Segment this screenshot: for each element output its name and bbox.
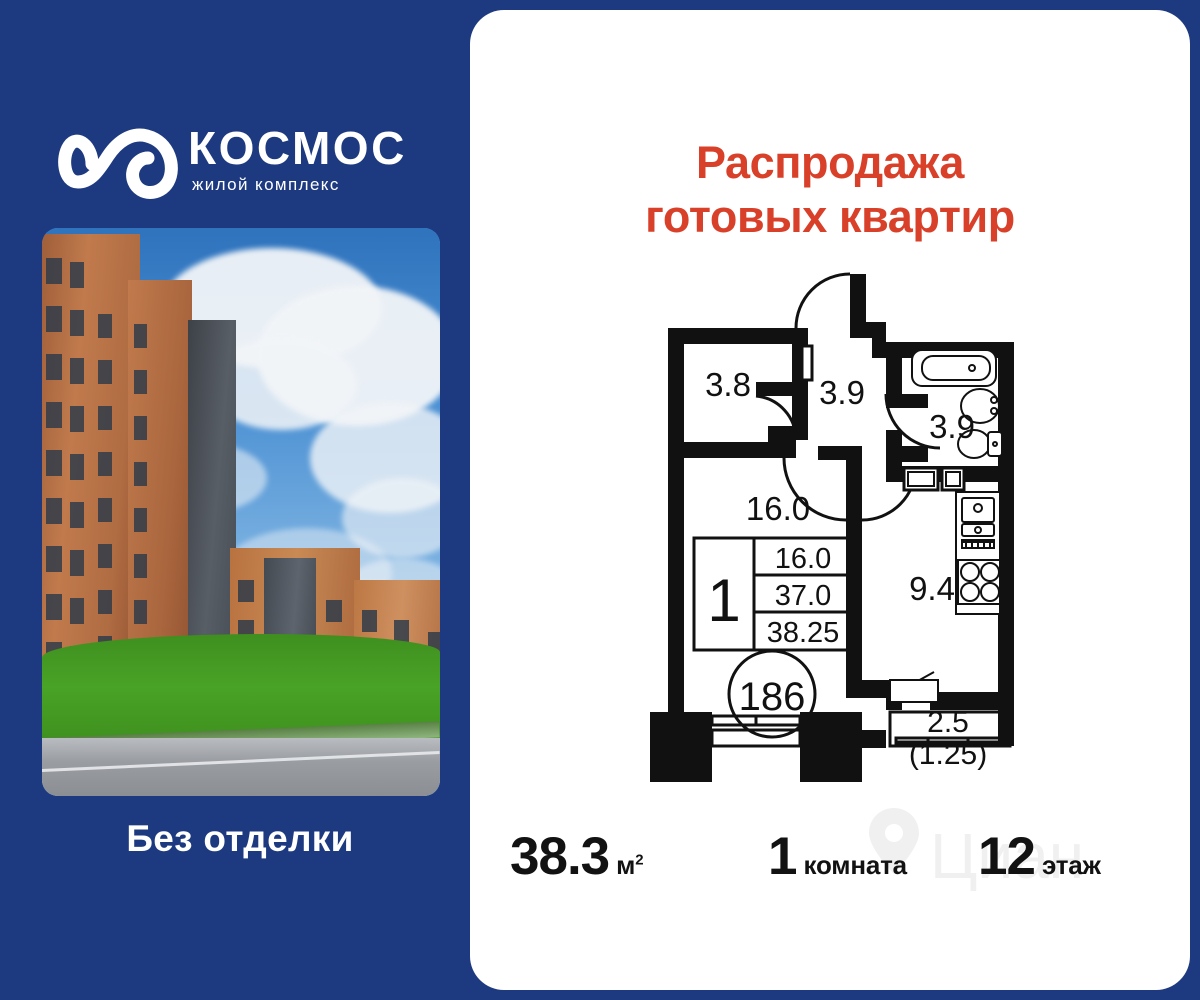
room-area-hallway-closet: 3.8 (705, 366, 751, 403)
info-living-area: 16.0 (775, 543, 831, 575)
headline-line-1: Распродажа (470, 136, 1190, 190)
summary-rooms-value: 1 (768, 826, 796, 887)
room-area-bathroom: 3.9 (929, 408, 975, 445)
apartment-number: 186 (739, 675, 806, 719)
summary-floor-value: 12 (978, 826, 1035, 887)
room-area-corridor: 3.9 (819, 374, 865, 411)
info-area-without-balcony: 37.0 (775, 580, 831, 612)
info-rooms-count: 1 (707, 567, 740, 634)
room-area-balcony: 2.5 (927, 706, 969, 739)
summary-area-unit: м2 (616, 850, 643, 881)
infinity-logo-icon (48, 124, 196, 204)
summary-area-value: 38.3 (510, 826, 609, 887)
brand-name: КОСМОС (188, 122, 458, 174)
room-area-balcony-coefficient: (1.25) (909, 738, 987, 771)
room-area-kitchen: 9.4 (909, 570, 955, 607)
room-area-living-room: 16.0 (746, 490, 810, 527)
summary-rooms-label: комната (803, 850, 906, 881)
summary-floor-label: этаж (1042, 850, 1101, 881)
finish-caption: Без отделки (0, 818, 480, 860)
headline-line-2: готовых квартир (470, 190, 1190, 244)
summary-rooms: 1 комната (768, 826, 907, 887)
brand-logo: КОСМОС жилой комплекс (48, 118, 448, 216)
offer-card: Распродажа готовых квартир (470, 10, 1190, 990)
summary-floor: 12 этаж (978, 826, 1101, 887)
info-total-area: 38.25 (767, 617, 840, 649)
summary-area: 38.3 м2 (510, 826, 643, 887)
building-photo (42, 228, 440, 796)
left-blue-panel: КОСМОС жилой комплекс (0, 0, 480, 1000)
headline: Распродажа готовых квартир (470, 136, 1190, 244)
brand-subtitle: жилой комплекс (188, 174, 458, 196)
summary-bar: 38.3 м2 1 комната 12 этаж (470, 818, 1190, 908)
bathtub-icon (912, 350, 996, 386)
floor-plan: 3.8 3.9 3.9 16.0 9.4 2.5 (1.25) 1 16.0 3… (650, 260, 1060, 805)
stove-icon (958, 560, 1000, 604)
